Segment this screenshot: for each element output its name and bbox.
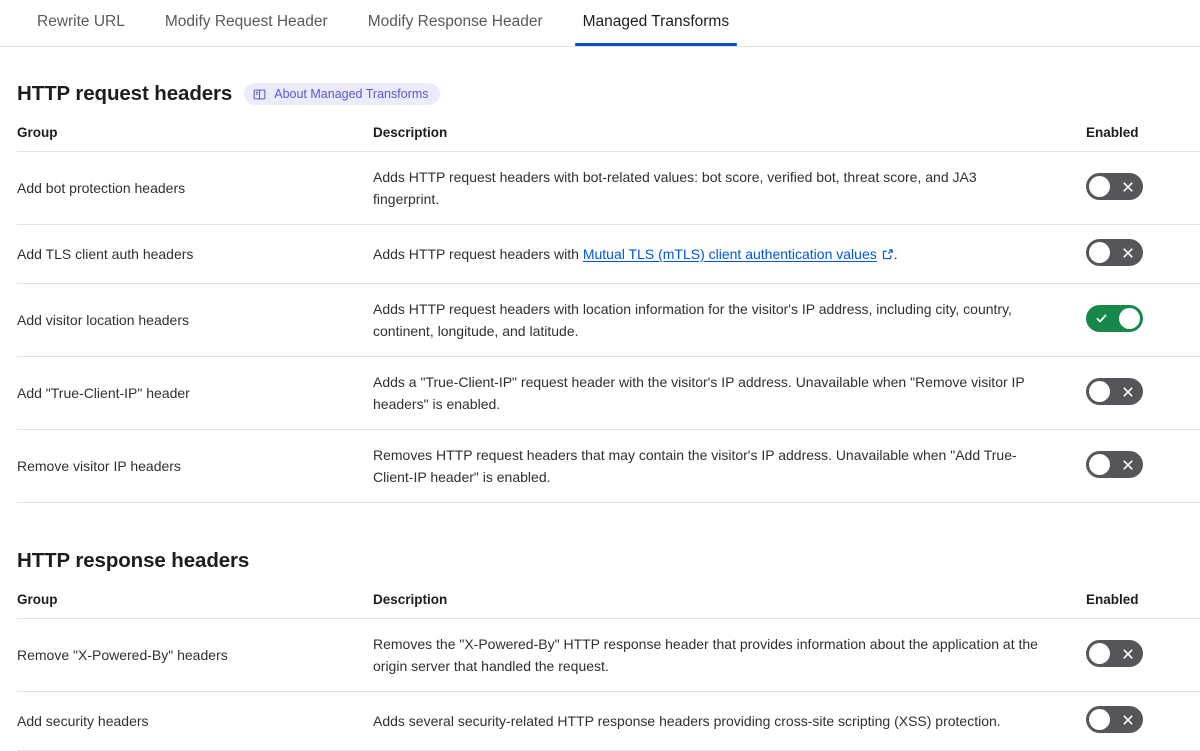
request-column-group: Group <box>17 125 373 152</box>
tab-modify-response-header[interactable]: Modify Response Header <box>348 0 563 45</box>
tab-managed-transforms[interactable]: Managed Transforms <box>563 0 749 45</box>
row-description: Adds a "True-Client-IP" request header w… <box>373 357 1086 430</box>
toggle-add-security-headers[interactable] <box>1086 706 1143 733</box>
toggle-knob <box>1089 709 1110 730</box>
response-section-header: HTTP response headers <box>17 549 1183 573</box>
request-table-head: Group Description Enabled <box>17 125 1200 152</box>
about-managed-transforms-badge[interactable]: About Managed Transforms <box>244 83 440 105</box>
row-group-label: Remove visitor IP headers <box>17 430 373 503</box>
table-row: Add visitor location headers Adds HTTP r… <box>17 284 1200 357</box>
request-column-description: Description <box>373 125 1086 152</box>
check-icon <box>1088 305 1115 332</box>
top-spacer <box>0 47 1200 82</box>
toggle-knob <box>1089 643 1110 664</box>
request-section-title: HTTP request headers <box>17 82 232 106</box>
row-enabled-cell <box>1086 357 1200 430</box>
request-table-header-row: Group Description Enabled <box>17 125 1200 152</box>
row-group-label: Add bot protection headers <box>17 152 373 225</box>
response-table-header-row: Group Description Enabled <box>17 592 1200 619</box>
response-table-body: Remove "X-Powered-By" headers Removes th… <box>17 619 1200 751</box>
table-row: Add "True-Client-IP" header Adds a "True… <box>17 357 1200 430</box>
mtls-documentation-link[interactable]: Mutual TLS (mTLS) client authentication … <box>583 246 877 262</box>
about-managed-transforms-label: About Managed Transforms <box>274 86 428 102</box>
response-column-enabled: Enabled <box>1086 592 1200 619</box>
toggle-knob <box>1089 381 1110 402</box>
response-headers-table: Group Description Enabled Remove "X-Powe… <box>17 592 1200 751</box>
response-section-title: HTTP response headers <box>17 549 249 573</box>
toggle-add-true-client-ip-header[interactable] <box>1086 378 1143 405</box>
close-icon <box>1114 640 1141 667</box>
row-enabled-cell <box>1086 284 1200 357</box>
response-header-spacer <box>17 573 1183 592</box>
response-table-head: Group Description Enabled <box>17 592 1200 619</box>
row-description: Removes the "X-Powered-By" HTTP response… <box>373 619 1086 692</box>
row-enabled-cell <box>1086 430 1200 503</box>
request-header-spacer <box>17 106 1183 125</box>
tab-modify-request-header[interactable]: Modify Request Header <box>145 0 348 45</box>
toggle-knob <box>1089 242 1110 263</box>
toggle-remove-x-powered-by-headers[interactable] <box>1086 640 1143 667</box>
row-description-prefix: Adds HTTP request headers with <box>373 246 583 262</box>
http-request-headers-section: HTTP request headers About Managed Trans… <box>0 82 1200 503</box>
tab-bar: Rewrite URL Modify Request Header Modify… <box>0 0 1200 47</box>
table-row: Remove "X-Powered-By" headers Removes th… <box>17 619 1200 692</box>
row-description: Adds HTTP request headers with bot-relat… <box>373 152 1086 225</box>
row-group-label: Remove "X-Powered-By" headers <box>17 619 373 692</box>
response-column-description: Description <box>373 592 1086 619</box>
section-gap <box>0 503 1200 549</box>
row-enabled-cell <box>1086 152 1200 225</box>
http-response-headers-section: HTTP response headers Group Description … <box>0 549 1200 751</box>
close-icon <box>1114 173 1141 200</box>
request-table-body: Add bot protection headers Adds HTTP req… <box>17 152 1200 503</box>
request-headers-table: Group Description Enabled Add bot protec… <box>17 125 1200 503</box>
close-icon <box>1114 706 1141 733</box>
response-column-group: Group <box>17 592 373 619</box>
toggle-knob <box>1089 176 1110 197</box>
row-group-label: Add "True-Client-IP" header <box>17 357 373 430</box>
row-group-label: Add visitor location headers <box>17 284 373 357</box>
row-group-label: Add TLS client auth headers <box>17 225 373 284</box>
toggle-knob <box>1119 308 1140 329</box>
row-description: Adds HTTP request headers with location … <box>373 284 1086 357</box>
toggle-add-tls-client-auth-headers[interactable] <box>1086 239 1143 266</box>
row-description: Removes HTTP request headers that may co… <box>373 430 1086 503</box>
table-row: Add bot protection headers Adds HTTP req… <box>17 152 1200 225</box>
close-icon <box>1114 451 1141 478</box>
toggle-add-bot-protection-headers[interactable] <box>1086 173 1143 200</box>
row-enabled-cell <box>1086 619 1200 692</box>
row-description-suffix: . <box>894 246 898 262</box>
row-enabled-cell <box>1086 225 1200 284</box>
table-row: Add TLS client auth headers Adds HTTP re… <box>17 225 1200 284</box>
close-icon <box>1114 378 1141 405</box>
request-section-header: HTTP request headers About Managed Trans… <box>17 82 1183 106</box>
tab-rewrite-url[interactable]: Rewrite URL <box>17 0 145 45</box>
toggle-add-visitor-location-headers[interactable] <box>1086 305 1143 332</box>
toggle-remove-visitor-ip-headers[interactable] <box>1086 451 1143 478</box>
toggle-knob <box>1089 454 1110 475</box>
request-column-enabled: Enabled <box>1086 125 1200 152</box>
close-icon <box>1114 239 1141 266</box>
row-description: Adds HTTP request headers with Mutual TL… <box>373 225 1086 284</box>
external-link-icon[interactable] <box>882 244 894 266</box>
book-icon <box>253 88 266 101</box>
table-row: Remove visitor IP headers Removes HTTP r… <box>17 430 1200 503</box>
